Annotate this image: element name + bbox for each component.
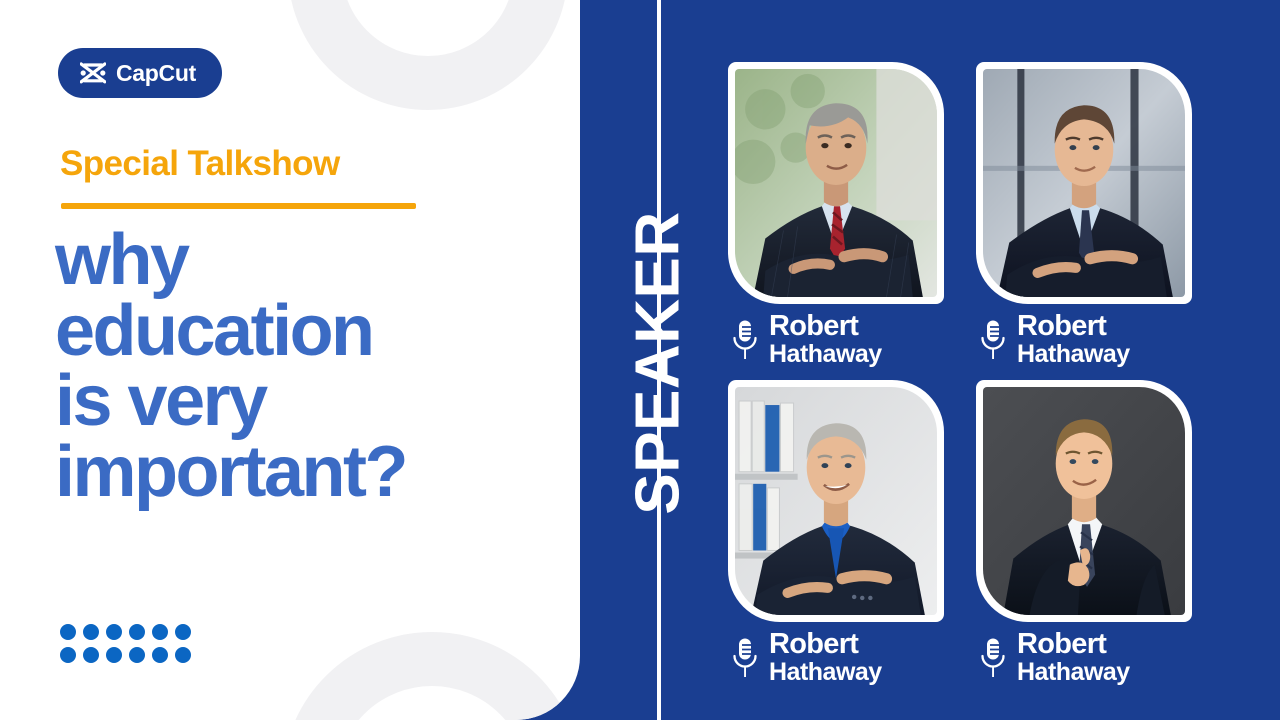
dot (152, 624, 168, 640)
speaker-last-name: Hathaway (1017, 660, 1130, 685)
eyebrow-underline (61, 203, 416, 209)
page-title: why education is very important? (55, 225, 555, 507)
dot (60, 647, 76, 663)
speaker-section-label-text: SPEAKER (628, 211, 690, 514)
speaker-name-row: Robert Hathaway (732, 312, 882, 367)
decorative-ring-bottom (282, 632, 580, 720)
speaker-first-name: Robert (769, 312, 882, 341)
speaker-first-name: Robert (1017, 312, 1130, 341)
speaker-name: Robert Hathaway (1017, 312, 1130, 367)
headline-line-1: why (55, 225, 555, 296)
dot (175, 624, 191, 640)
decorative-dot-grid (60, 624, 191, 663)
speaker-last-name: Hathaway (1017, 342, 1130, 367)
microphone-icon (732, 319, 758, 361)
speaker-name-row: Robert Hathaway (732, 630, 882, 685)
capcut-logo-badge[interactable]: CapCut (58, 48, 222, 98)
dot (83, 647, 99, 663)
microphone-icon (980, 637, 1006, 679)
dot (60, 624, 76, 640)
dot (129, 647, 145, 663)
headline-line-3: is very (55, 366, 555, 437)
decorative-ring-top (288, 0, 568, 110)
speaker-card[interactable]: Robert Hathaway (976, 62, 1192, 358)
speaker-first-name: Robert (1017, 630, 1130, 659)
speaker-first-name: Robert (769, 630, 882, 659)
capcut-logo-text: CapCut (116, 62, 196, 85)
speaker-name: Robert Hathaway (769, 312, 882, 367)
speaker-name: Robert Hathaway (1017, 630, 1130, 685)
speaker-photo (983, 69, 1185, 297)
microphone-icon (732, 637, 758, 679)
speaker-grid: Robert Hathaway (728, 62, 1208, 682)
speaker-photo (735, 69, 937, 297)
speaker-card[interactable]: Robert Hathaway (728, 380, 944, 676)
speaker-name: Robert Hathaway (769, 630, 882, 685)
speaker-name-row: Robert Hathaway (980, 312, 1130, 367)
speaker-photo (735, 387, 937, 615)
speaker-card[interactable]: Robert Hathaway (976, 380, 1192, 676)
speaker-last-name: Hathaway (769, 342, 882, 367)
speaker-name-row: Robert Hathaway (980, 630, 1130, 685)
dot (106, 647, 122, 663)
speaker-last-name: Hathaway (769, 660, 882, 685)
speaker-card[interactable]: Robert Hathaway (728, 62, 944, 358)
speaker-photo (983, 387, 1185, 615)
speaker-photo-frame (728, 380, 944, 622)
headline-line-2: education (55, 296, 555, 367)
speaker-photo-frame (976, 62, 1192, 304)
headline-line-4: important? (55, 437, 555, 508)
dot (152, 647, 168, 663)
dot (129, 624, 145, 640)
dot (83, 624, 99, 640)
speaker-section-label: SPEAKER (617, 218, 701, 508)
speaker-photo-frame (728, 62, 944, 304)
capcut-hourglass-icon (80, 62, 106, 84)
dot (106, 624, 122, 640)
dot (175, 647, 191, 663)
microphone-icon (980, 319, 1006, 361)
eyebrow-label: Special Talkshow (60, 146, 340, 181)
speaker-photo-frame (976, 380, 1192, 622)
poster-canvas: CapCut Special Talkshow why education is… (0, 0, 1280, 720)
